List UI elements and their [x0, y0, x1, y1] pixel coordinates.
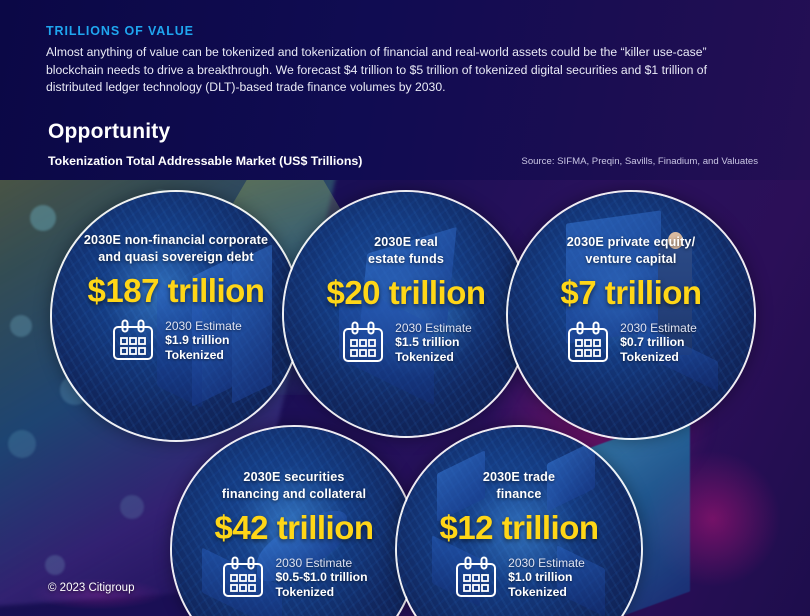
- bubble-title-line2: venture capital: [585, 252, 676, 266]
- bubble-estimate: 2030 Estimate $1.0 trillion Tokenized: [453, 555, 585, 601]
- estimate-text: 2030 Estimate $0.7 trillion Tokenized: [620, 321, 697, 366]
- estimate-text: 2030 Estimate $0.5-$1.0 trillion Tokeniz…: [275, 556, 367, 601]
- calendar-icon: [340, 320, 386, 366]
- bokeh-dot: [30, 205, 56, 231]
- bubble-value: $20 trillion: [326, 274, 485, 312]
- bubble-content: 2030E non-financial corporate and quasi …: [52, 192, 300, 440]
- estimate-text: 2030 Estimate $1.0 trillion Tokenized: [508, 556, 585, 601]
- bubble-value: $42 trillion: [214, 509, 373, 547]
- page-kicker: TRILLIONS OF VALUE: [46, 24, 194, 38]
- header-band: TRILLIONS OF VALUE Almost anything of va…: [0, 0, 810, 180]
- estimate-value: $1.9 trillion: [165, 333, 242, 348]
- bubble-value: $187 trillion: [88, 272, 265, 310]
- bubble-content: 2030E private equity/ venture capital $7…: [508, 192, 754, 438]
- bubble-content: 2030E real estate funds $20 trillion: [284, 192, 528, 436]
- estimate-value: $0.5-$1.0 trillion: [275, 570, 367, 585]
- bubble-title: 2030E non-financial corporate and quasi …: [84, 232, 268, 265]
- estimate-tokenized: Tokenized: [395, 350, 472, 365]
- estimate-tokenized: Tokenized: [275, 585, 367, 600]
- estimate-text: 2030 Estimate $1.9 trillion Tokenized: [165, 319, 242, 364]
- bubble-value: $12 trillion: [439, 509, 598, 547]
- bubble-title-line1: 2030E securities: [243, 470, 344, 484]
- bubble-title-line2: financing and collateral: [222, 487, 366, 501]
- bokeh-dot: [45, 555, 65, 575]
- bubble-estimate: 2030 Estimate $0.5-$1.0 trillion Tokeniz…: [220, 555, 367, 601]
- intro-paragraph: Almost anything of value can be tokenize…: [46, 44, 761, 97]
- calendar-icon: [453, 555, 499, 601]
- bubble-title-line1: 2030E real: [374, 235, 438, 249]
- estimate-text: 2030 Estimate $1.5 trillion Tokenized: [395, 321, 472, 366]
- estimate-tokenized: Tokenized: [620, 350, 697, 365]
- bubble-title-line1: 2030E non-financial corporate: [84, 233, 268, 247]
- chart-subtitle: Tokenization Total Addressable Market (U…: [48, 154, 362, 168]
- estimate-value: $1.5 trillion: [395, 335, 472, 350]
- bubble-real-estate-funds[interactable]: 2030E real estate funds $20 trillion: [282, 190, 530, 438]
- bubble-title: 2030E private equity/ venture capital: [567, 234, 695, 267]
- bokeh-dot: [120, 495, 144, 519]
- estimate-label: 2030 Estimate: [395, 321, 472, 336]
- page-title: Opportunity: [48, 120, 170, 144]
- estimate-tokenized: Tokenized: [165, 348, 242, 363]
- bubble-title: 2030E trade finance: [483, 469, 555, 502]
- bubble-title-line2: estate funds: [368, 252, 444, 266]
- calendar-icon: [220, 555, 266, 601]
- bokeh-dot: [10, 315, 32, 337]
- estimate-tokenized: Tokenized: [508, 585, 585, 600]
- source-note: Source: SIFMA, Preqin, Savills, Finadium…: [521, 156, 758, 167]
- bubble-title: 2030E real estate funds: [368, 234, 444, 267]
- bubble-title-line1: 2030E trade: [483, 470, 555, 484]
- bubble-non-financial-corporate-debt[interactable]: 2030E non-financial corporate and quasi …: [50, 190, 302, 442]
- estimate-value: $1.0 trillion: [508, 570, 585, 585]
- bubble-private-equity-venture-capital[interactable]: 2030E private equity/ venture capital $7…: [506, 190, 756, 440]
- estimate-label: 2030 Estimate: [620, 321, 697, 336]
- calendar-icon: [110, 318, 156, 364]
- calendar-icon: [565, 320, 611, 366]
- bubble-estimate: 2030 Estimate $1.5 trillion Tokenized: [340, 320, 472, 366]
- bubble-estimate: 2030 Estimate $1.9 trillion Tokenized: [110, 318, 242, 364]
- bubble-title-line2: and quasi sovereign debt: [98, 250, 253, 264]
- bubble-title-line2: finance: [496, 487, 541, 501]
- bubble-title-line1: 2030E private equity/: [567, 235, 695, 249]
- estimate-label: 2030 Estimate: [508, 556, 585, 571]
- estimate-label: 2030 Estimate: [275, 556, 367, 571]
- bubble-title: 2030E securities financing and collatera…: [222, 469, 366, 502]
- bokeh-dot: [8, 430, 36, 458]
- bubble-estimate: 2030 Estimate $0.7 trillion Tokenized: [565, 320, 697, 366]
- bubble-value: $7 trillion: [560, 274, 701, 312]
- copyright-notice: © 2023 Citigroup: [48, 582, 134, 594]
- infographic-page: TRILLIONS OF VALUE Almost anything of va…: [0, 0, 810, 616]
- estimate-value: $0.7 trillion: [620, 335, 697, 350]
- estimate-label: 2030 Estimate: [165, 319, 242, 334]
